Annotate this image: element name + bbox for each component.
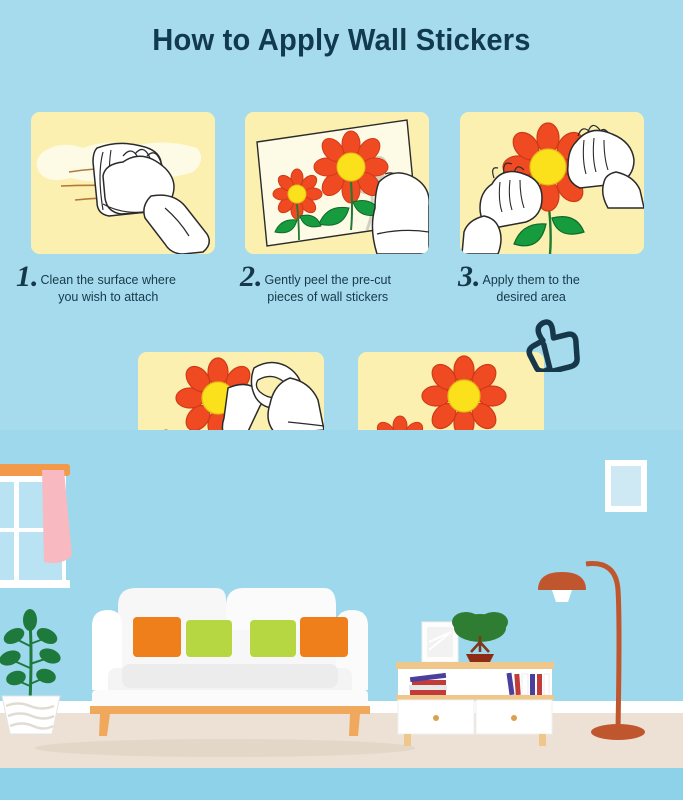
thumbs-up-icon <box>522 316 586 372</box>
cushion-4 <box>300 617 348 657</box>
poster-root: How to Apply Wall Stickers <box>0 0 683 800</box>
step-text-2: Gently peel the pre-cut pieces of wall s… <box>265 262 391 305</box>
step-illustration-1 <box>31 112 215 254</box>
step-text-1: Clean the surface where you wish to atta… <box>41 262 177 305</box>
cushion-3 <box>250 620 296 657</box>
step-caption-3: 3. Apply them to the desired area <box>458 262 658 305</box>
step-caption-1: 1. Clean the surface where you wish to a… <box>16 262 226 305</box>
step-number-1: 1. <box>16 262 39 292</box>
step-caption-2: 2. Gently peel the pre-cut pieces of wal… <box>240 262 450 305</box>
step-text-3: Apply them to the desired area <box>483 262 580 305</box>
step-number-3: 3. <box>458 262 481 292</box>
cushion-2 <box>186 620 232 657</box>
step-number-2: 2. <box>240 262 263 292</box>
page-title: How to Apply Wall Stickers <box>20 22 662 58</box>
step-illustration-2 <box>245 112 429 254</box>
step-illustration-3 <box>460 112 644 254</box>
room-scene <box>0 430 683 800</box>
wall-picture <box>605 460 647 512</box>
cushion-1 <box>133 617 181 657</box>
